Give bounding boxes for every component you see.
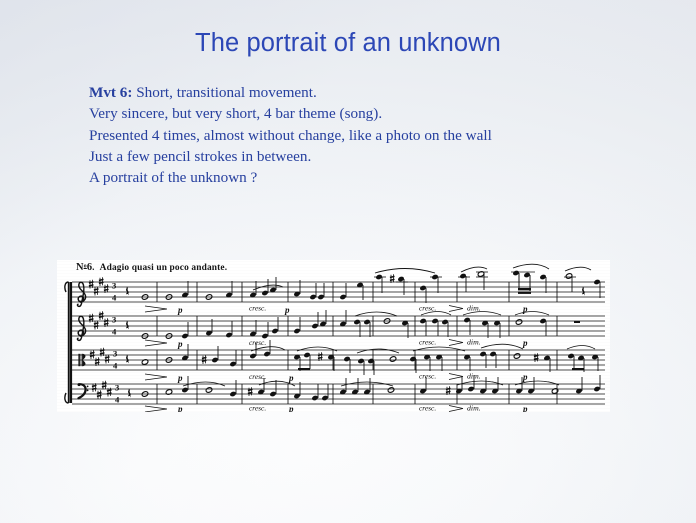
svg-text:cresc.: cresc. bbox=[419, 304, 436, 313]
svg-text:p: p bbox=[284, 305, 290, 315]
svg-text:p: p bbox=[177, 339, 183, 349]
staff-viola: 3 4 bbox=[72, 348, 605, 371]
score-inner: No6.Adagio quasi un poco andante. bbox=[57, 260, 610, 412]
body-line-1-text: Short, transitional movement. bbox=[132, 84, 316, 101]
body-line-5-text: A portrait of the unknown ? bbox=[89, 169, 257, 186]
staff-cello: 3 4 bbox=[72, 381, 605, 405]
svg-text:dim.: dim. bbox=[467, 404, 481, 413]
svg-text:4: 4 bbox=[113, 361, 118, 371]
svg-text:cresc.: cresc. bbox=[419, 404, 436, 413]
svg-text:cresc.: cresc. bbox=[419, 338, 436, 347]
body-text-block: Mvt 6: Short, transitional movement. Ver… bbox=[89, 82, 629, 188]
body-line-4: Just a few pencil strokes in between. bbox=[89, 146, 629, 167]
notes-violin-1: p cresc. p cresc. dim. p bbox=[141, 264, 600, 315]
svg-text:dim.: dim. bbox=[467, 304, 481, 313]
notes-cello: p cresc. p cresc. dim. p bbox=[141, 375, 600, 412]
body-line-1: Mvt 6: Short, transitional movement. bbox=[89, 82, 629, 103]
svg-text:p: p bbox=[288, 373, 294, 383]
svg-text:p: p bbox=[288, 404, 294, 412]
body-line-3-text: Presented 4 times, almost without change… bbox=[89, 127, 492, 144]
svg-text:p: p bbox=[522, 338, 528, 348]
body-line-1-lead: Mvt 6: bbox=[89, 84, 132, 101]
svg-text:cresc.: cresc. bbox=[249, 304, 266, 313]
svg-text:4: 4 bbox=[112, 327, 117, 337]
slide-canvas: The portrait of an unknown Mvt 6: Short,… bbox=[0, 0, 696, 523]
body-line-3: Presented 4 times, almost without change… bbox=[89, 125, 629, 146]
body-line-4-text: Just a few pencil strokes in between. bbox=[89, 148, 311, 165]
staff-violin-2: 3 4 bbox=[72, 311, 605, 340]
svg-text:3: 3 bbox=[112, 281, 116, 291]
svg-text:cresc.: cresc. bbox=[249, 338, 266, 347]
svg-text:dim.: dim. bbox=[467, 338, 481, 347]
svg-text:3: 3 bbox=[113, 349, 117, 359]
svg-text:4: 4 bbox=[112, 293, 117, 303]
barlines bbox=[157, 282, 557, 404]
svg-text:p: p bbox=[522, 372, 528, 382]
svg-text:p: p bbox=[177, 404, 183, 412]
body-line-5: A portrait of the unknown ? bbox=[89, 167, 629, 188]
svg-text:p: p bbox=[522, 404, 528, 412]
score-system: 3 4 bbox=[65, 264, 605, 412]
svg-text:3: 3 bbox=[112, 315, 116, 325]
musical-score-image: No6.Adagio quasi un poco andante. bbox=[57, 260, 610, 412]
body-line-2: Very sincere, but very short, 4 bar them… bbox=[89, 103, 629, 124]
page-title: The portrait of an unknown bbox=[0, 29, 696, 58]
svg-text:cresc.: cresc. bbox=[419, 372, 436, 381]
svg-text:p: p bbox=[177, 305, 183, 315]
svg-text:4: 4 bbox=[115, 395, 120, 405]
svg-text:3: 3 bbox=[115, 383, 119, 393]
svg-text:cresc.: cresc. bbox=[249, 404, 266, 413]
notes-viola: p cresc. p cresc. dim. p bbox=[141, 340, 598, 383]
body-line-2-text: Very sincere, but very short, 4 bar them… bbox=[89, 105, 382, 122]
svg-text:p: p bbox=[177, 373, 183, 383]
score-notation-svg: 3 4 bbox=[57, 260, 610, 412]
